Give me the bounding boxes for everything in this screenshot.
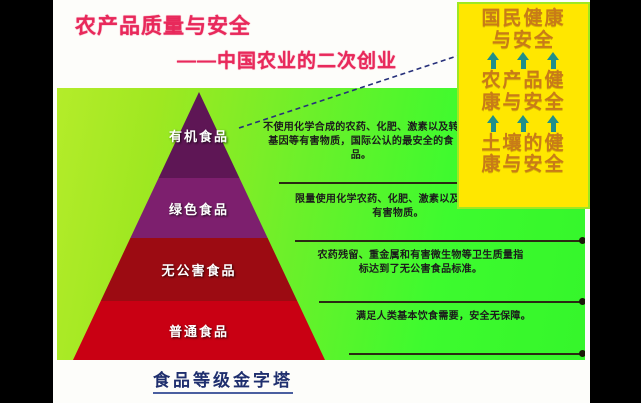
- pyramid-tier-label: 无公害食品: [161, 260, 236, 279]
- up-arrow-icon: [487, 52, 500, 69]
- slide-stage: 农产品质量与安全 ——中国农业的二次创业 有机食品 绿色食品: [0, 0, 641, 403]
- up-arrow-icon: [517, 52, 530, 69]
- pyramid-tier-label: 有机食品: [169, 126, 229, 145]
- tier-separator-line: [319, 301, 583, 303]
- tier-separator-dot: [579, 237, 585, 244]
- tier-separator-line: [295, 240, 583, 242]
- pyramid-tier-green-labelbox: 绿色食品: [73, 178, 325, 238]
- pyramid-tier-ordinary-labelbox: 普通食品: [73, 301, 325, 360]
- page-title: 农产品质量与安全: [75, 10, 251, 40]
- page-subtitle: ——中国农业的二次创业: [177, 46, 397, 73]
- tier-separator-dot: [579, 350, 585, 357]
- callout-line: 土壤的健: [459, 133, 588, 155]
- up-arrow-icon: [547, 52, 560, 69]
- callout-line: 与安全: [459, 30, 588, 52]
- pyramid-tier-label: 普通食品: [169, 321, 229, 340]
- diagram-caption: 食品等级金字塔: [153, 366, 293, 394]
- up-arrow-icon: [487, 115, 500, 132]
- tier-description-pollution-free: 农药残留、重金属和有害微生物等卫生质量指标达到了无公害食品标准。: [313, 249, 528, 277]
- callout-arrow-row: [459, 115, 588, 132]
- tier-description-organic: 不使用化学合成的农药、化肥、激素以及转基因等有害物质，国际公认的最安全的食品。: [261, 121, 461, 162]
- callout-box[interactable]: 国民健康 与安全 农产品健 康与安全 土壤的健 康与安全: [457, 2, 590, 209]
- callout-line: 农产品健: [459, 70, 588, 92]
- callout-line: 国民健康: [459, 8, 588, 30]
- tier-description-ordinary: 满足人类基本饮食需要，安全无保障。: [341, 310, 546, 324]
- callout-arrow-row: [459, 52, 588, 69]
- callout-line: 康与安全: [459, 154, 588, 176]
- up-arrow-icon: [547, 115, 560, 132]
- pyramid-tier-label: 绿色食品: [169, 199, 229, 218]
- tier-separator-line: [349, 353, 583, 355]
- tier-separator-dot: [579, 298, 585, 305]
- up-arrow-icon: [517, 115, 530, 132]
- callout-line: 康与安全: [459, 92, 588, 114]
- title-block: 农产品质量与安全 ——中国农业的二次创业: [65, 8, 495, 86]
- pyramid-tier-pollution-free-labelbox: 无公害食品: [73, 238, 325, 301]
